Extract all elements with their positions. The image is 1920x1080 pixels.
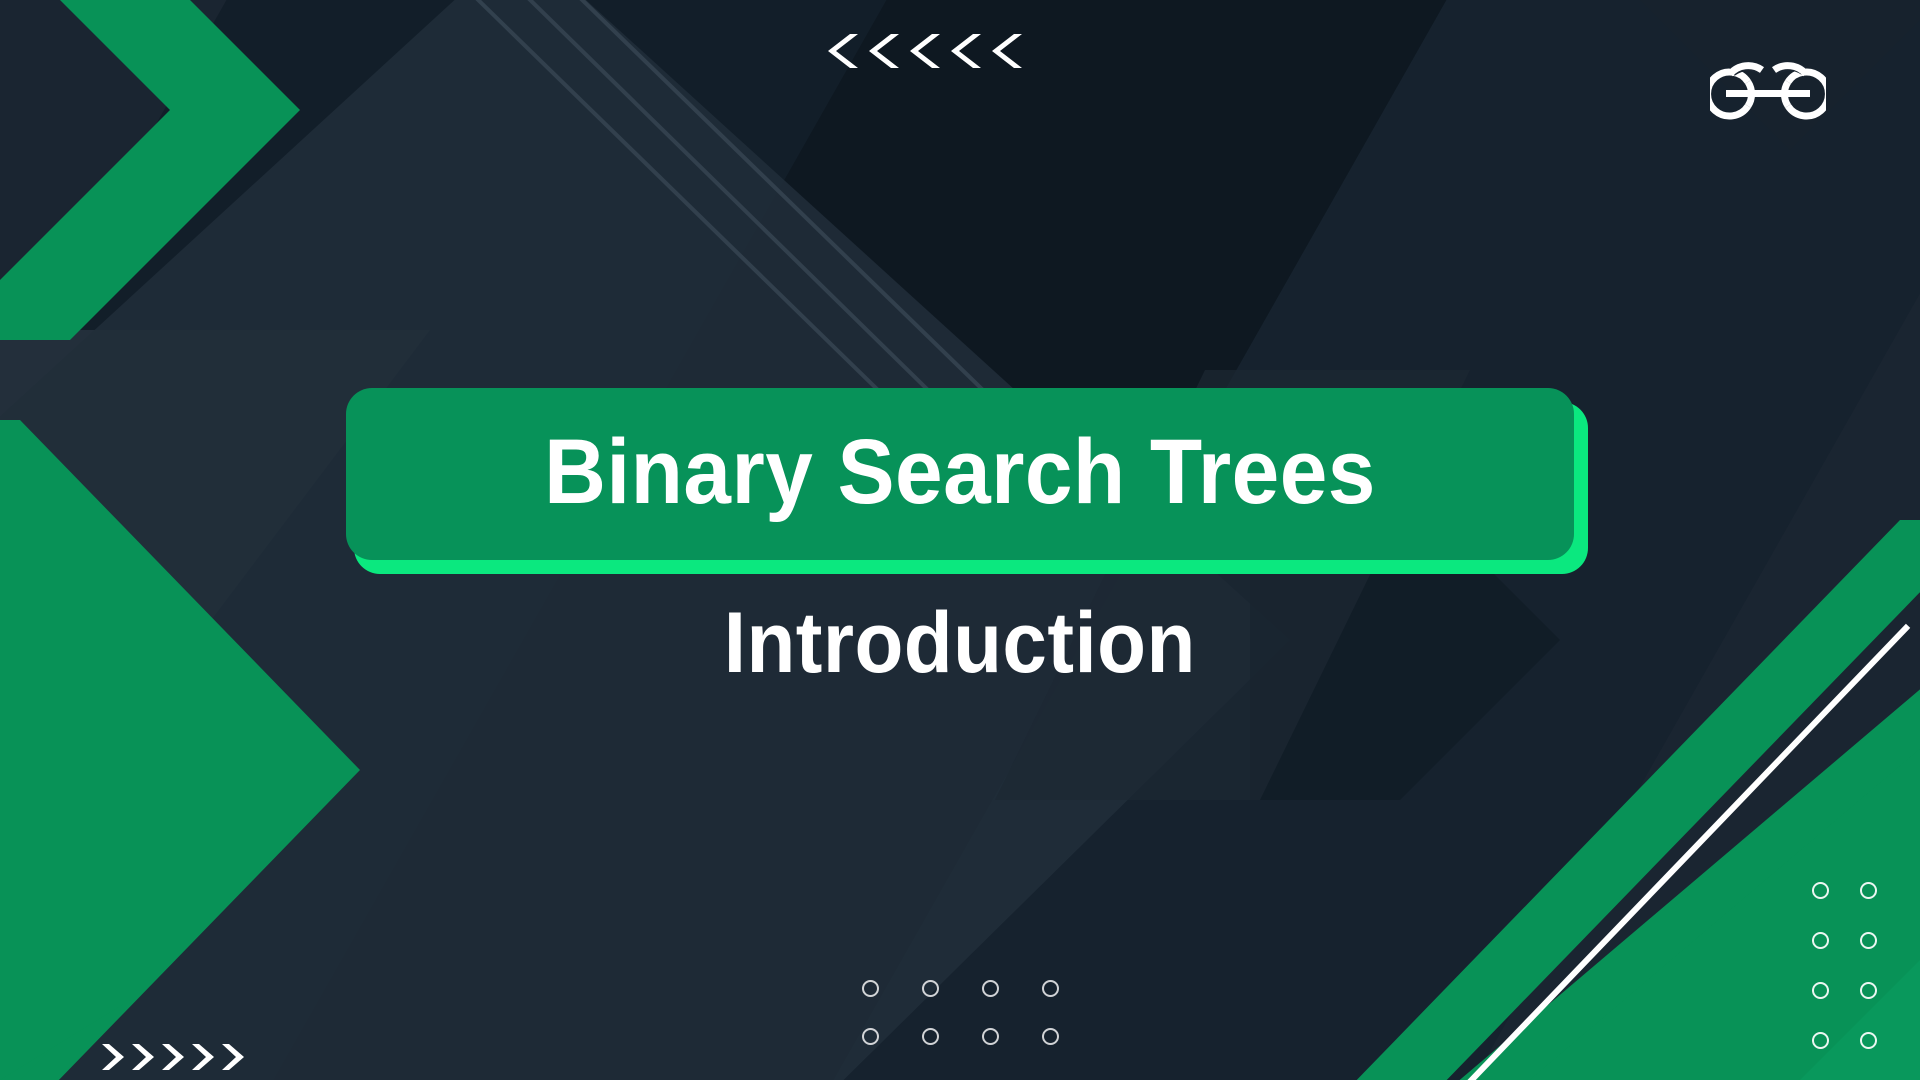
page-title: Binary Search Trees [441,426,1479,518]
title-card-wrapper: Binary Search Trees [346,388,1574,560]
page-subtitle: Introduction [724,600,1196,686]
slide-content: Binary Search Trees Introduction [0,0,1920,1080]
title-card: Binary Search Trees [346,388,1574,560]
slide-canvas: Binary Search Trees Introduction [0,0,1920,1080]
